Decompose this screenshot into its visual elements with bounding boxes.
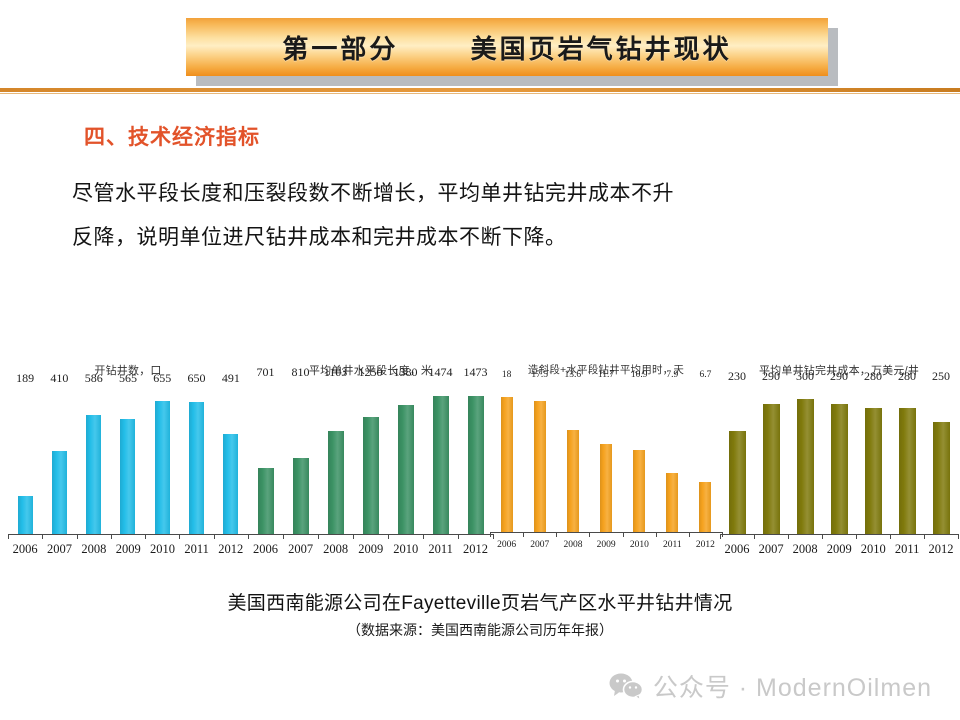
bar[interactable]: 491 <box>223 434 238 534</box>
bar-item[interactable]: 1473 <box>468 382 484 534</box>
bar[interactable]: 11.7 <box>600 444 612 532</box>
header-rule-thick <box>0 88 960 92</box>
figure-caption-source: （数据来源：美国西南能源公司历年年报） <box>0 620 960 640</box>
bar-item[interactable]: 6.7 <box>699 382 711 532</box>
x-tick-label: 2011 <box>428 542 453 557</box>
header-banner: 第一部分 美国页岩气钻井现状 <box>186 18 828 76</box>
bar-value-label: 6.7 <box>699 370 711 380</box>
x-tick-label: 2009 <box>597 540 616 550</box>
axis-tick-mark <box>490 532 491 537</box>
x-tick-label: 2012 <box>218 542 243 557</box>
axis-tick-mark <box>77 534 78 539</box>
axis-tick-mark <box>822 534 823 539</box>
chart-wells: 开钻井数，口1894105865656556504912006200720082… <box>8 352 248 567</box>
bar[interactable]: 410 <box>52 451 67 534</box>
bar[interactable]: 250 <box>933 422 950 534</box>
axis-tick-mark <box>890 534 891 539</box>
x-tick-label: 2009 <box>827 542 852 557</box>
axis-tick-mark <box>145 534 146 539</box>
x-tick-label: 2008 <box>793 542 818 557</box>
bar-item[interactable]: 1250 <box>363 382 379 534</box>
bar-value-label: 13.6 <box>565 370 582 380</box>
bar-value-label: 189 <box>16 371 34 386</box>
bar-item[interactable]: 7.9 <box>666 382 678 532</box>
bar-item[interactable]: 11.7 <box>600 382 612 532</box>
bar-value-label: 1380 <box>394 365 418 380</box>
bar-item[interactable]: 300 <box>797 386 814 534</box>
bar-value-label: 1473 <box>464 365 488 380</box>
x-tick-label: 2012 <box>928 542 953 557</box>
plot-area-days: 1817.513.611.710.97.96.7 <box>490 382 722 532</box>
x-tick-label: 2007 <box>288 542 313 557</box>
x-tick-label: 2009 <box>116 542 141 557</box>
axis-tick-mark <box>720 534 721 539</box>
axis-tick-mark <box>689 532 690 537</box>
bar-item[interactable]: 280 <box>899 386 916 534</box>
axis-tick-mark <box>179 534 180 539</box>
bar-value-label: 1474 <box>429 365 453 380</box>
chart-length: 平均单井水平段长度，米70181011031250138014741473200… <box>248 352 493 567</box>
x-tick-label: 2008 <box>323 542 348 557</box>
axis-tick-mark <box>388 534 389 539</box>
bar-series-length: 70181011031250138014741473 <box>248 382 493 534</box>
body-paragraph: 尽管水平段长度和压裂段数不断增长，平均单井钻完井成本不升 反降，说明单位进尺钻井… <box>72 172 862 260</box>
bar[interactable]: 10.9 <box>633 450 645 532</box>
bar[interactable]: 18 <box>501 397 513 532</box>
x-tick-label: 2012 <box>696 540 715 550</box>
x-tick-label: 2007 <box>530 540 549 550</box>
watermark-text: 公众号 · ModernOilmen <box>653 668 932 704</box>
bar[interactable]: 650 <box>189 402 204 534</box>
bar-item[interactable]: 250 <box>933 386 950 534</box>
bar-value-label: 565 <box>119 371 137 386</box>
x-axis-ticks-cost: 2006200720082009201020112012 <box>720 542 958 557</box>
bar-item[interactable]: 410 <box>52 388 67 534</box>
axis-tick-mark <box>214 534 215 539</box>
bar[interactable]: 189 <box>18 496 33 534</box>
bar[interactable]: 290 <box>831 404 848 534</box>
axis-tick-mark <box>754 534 755 539</box>
axis-tick-mark <box>589 532 590 537</box>
bar-item[interactable]: 290 <box>763 386 780 534</box>
x-tick-label: 2008 <box>563 540 582 550</box>
bar[interactable]: 13.6 <box>567 430 579 532</box>
bar-value-label: 491 <box>222 371 240 386</box>
x-tick-label: 2009 <box>358 542 383 557</box>
bar-item[interactable]: 13.6 <box>567 382 579 532</box>
bar-value-label: 250 <box>932 369 950 384</box>
axis-tick-mark <box>283 534 284 539</box>
figure-caption-main: 美国西南能源公司在Fayetteville页岩气产区水平井钻井情况 <box>0 588 960 615</box>
x-axis-cost <box>720 534 958 535</box>
axis-tick-mark <box>458 534 459 539</box>
paragraph-line: 尽管水平段长度和压裂段数不断增长，平均单井钻完井成本不升 <box>72 172 862 216</box>
section-heading: 四、技术经济指标 <box>84 121 260 151</box>
x-tick-label: 2006 <box>253 542 278 557</box>
bar-value-label: 17.5 <box>531 370 548 380</box>
banner-plate: 第一部分 美国页岩气钻井现状 <box>186 18 828 76</box>
x-tick-label: 2010 <box>630 540 649 550</box>
x-tick-label: 2007 <box>47 542 72 557</box>
axis-tick-mark <box>353 534 354 539</box>
bar-value-label: 7.9 <box>666 370 678 380</box>
bar-value-label: 290 <box>830 369 848 384</box>
bar-item[interactable]: 1380 <box>398 382 414 534</box>
bar-value-label: 810 <box>292 365 310 380</box>
bar-item[interactable]: 10.9 <box>633 382 645 532</box>
axis-tick-mark <box>248 534 249 539</box>
bar[interactable]: 230 <box>729 431 746 534</box>
bar-item[interactable]: 1103 <box>328 382 344 534</box>
bar[interactable]: 565 <box>120 419 135 534</box>
bar[interactable]: 290 <box>763 404 780 534</box>
bar-value-label: 290 <box>762 369 780 384</box>
charts-row: 开钻井数，口1894105865656556504912006200720082… <box>0 352 960 567</box>
bar-value-label: 280 <box>898 369 916 384</box>
bar-value-label: 10.9 <box>631 370 648 380</box>
bar-value-label: 1250 <box>359 365 383 380</box>
axis-tick-mark <box>556 532 557 537</box>
x-tick-label: 2006 <box>497 540 516 550</box>
bar[interactable]: 701 <box>258 468 274 534</box>
x-tick-label: 2010 <box>150 542 175 557</box>
x-tick-label: 2011 <box>895 542 920 557</box>
axis-tick-mark <box>656 532 657 537</box>
bar[interactable]: 280 <box>899 408 916 534</box>
bar[interactable]: 655 <box>155 401 170 534</box>
banner-title: 第一部分 美国页岩气钻井现状 <box>282 29 731 66</box>
bar-item[interactable]: 1474 <box>433 382 449 534</box>
bar-item[interactable]: 701 <box>258 382 274 534</box>
bar-item[interactable]: 565 <box>120 388 135 534</box>
bar-value-label: 1103 <box>324 365 348 380</box>
header-rule-thin <box>0 93 960 94</box>
bar-item[interactable]: 17.5 <box>534 382 546 532</box>
bar-value-label: 230 <box>728 369 746 384</box>
plot-area-cost: 230290300290280280250 <box>720 386 958 534</box>
x-tick-label: 2011 <box>184 542 209 557</box>
bar[interactable]: 810 <box>293 458 309 534</box>
bar-item[interactable]: 280 <box>865 386 882 534</box>
x-tick-label: 2006 <box>725 542 750 557</box>
axis-tick-mark <box>523 532 524 537</box>
bar-value-label: 410 <box>50 371 68 386</box>
plot-area-length: 70181011031250138014741473 <box>248 382 493 534</box>
bar-value-label: 655 <box>153 371 171 386</box>
axis-tick-mark <box>856 534 857 539</box>
x-tick-label: 2012 <box>463 542 488 557</box>
axis-tick-mark <box>788 534 789 539</box>
bar[interactable]: 17.5 <box>534 401 546 532</box>
x-axis-days <box>490 532 722 533</box>
x-axis-length <box>248 534 493 535</box>
bar-item[interactable]: 810 <box>293 382 309 534</box>
x-axis-ticks-wells: 2006200720082009201020112012 <box>8 542 248 557</box>
axis-tick-mark <box>423 534 424 539</box>
bar-item[interactable]: 586 <box>86 388 101 534</box>
bar-value-label: 280 <box>864 369 882 384</box>
bar-value-label: 650 <box>188 371 206 386</box>
x-tick-label: 2010 <box>861 542 886 557</box>
axis-tick-mark <box>623 532 624 537</box>
bar[interactable]: 1474 <box>433 396 449 534</box>
paragraph-line: 反降，说明单位进尺钻井成本和完井成本不断下降。 <box>72 216 862 260</box>
bar[interactable]: 1380 <box>398 405 414 534</box>
x-tick-label: 2008 <box>81 542 106 557</box>
bar-item[interactable]: 189 <box>18 388 33 534</box>
bar-item[interactable]: 290 <box>831 386 848 534</box>
x-axis-ticks-days: 2006200720082009201020112012 <box>490 540 722 550</box>
x-tick-label: 2011 <box>663 540 682 550</box>
bar-value-label: 586 <box>85 371 103 386</box>
bar-series-cost: 230290300290280280250 <box>720 386 958 534</box>
x-axis-ticks-length: 2006200720082009201020112012 <box>248 542 493 557</box>
bar[interactable]: 1250 <box>363 417 379 534</box>
bar-item[interactable]: 230 <box>729 386 746 534</box>
axis-tick-mark <box>924 534 925 539</box>
bar-value-label: 18 <box>502 370 512 380</box>
bar[interactable]: 6.7 <box>699 482 711 532</box>
axis-tick-mark <box>958 534 959 539</box>
plot-area-wells: 189410586565655650491 <box>8 388 248 534</box>
bar-item[interactable]: 655 <box>155 388 170 534</box>
bar[interactable]: 1473 <box>468 396 484 534</box>
bar-item[interactable]: 18 <box>501 382 513 532</box>
chart-cost: 平均单井钻完井成本，万美元/井2302903002902802802502006… <box>720 352 958 567</box>
bar[interactable]: 280 <box>865 408 882 534</box>
bar-series-days: 1817.513.611.710.97.96.7 <box>490 382 722 532</box>
bar[interactable]: 7.9 <box>666 473 678 532</box>
axis-tick-mark <box>42 534 43 539</box>
bar-item[interactable]: 650 <box>189 388 204 534</box>
axis-tick-mark <box>8 534 9 539</box>
bar[interactable]: 300 <box>797 399 814 534</box>
bar-value-label: 11.7 <box>598 370 614 380</box>
bar-series-wells: 189410586565655650491 <box>8 388 248 534</box>
watermark: 公众号 · ModernOilmen <box>609 668 932 704</box>
axis-tick-mark <box>111 534 112 539</box>
bar-item[interactable]: 491 <box>223 388 238 534</box>
bar-value-label: 300 <box>796 369 814 384</box>
wechat-icon <box>609 672 643 700</box>
bar[interactable]: 1103 <box>328 431 344 534</box>
x-axis-wells <box>8 534 248 535</box>
chart-days: 造斜段+水平段钻井平均用时，天1817.513.611.710.97.96.72… <box>490 352 722 567</box>
x-tick-label: 2007 <box>759 542 784 557</box>
bar-value-label: 701 <box>257 365 275 380</box>
x-tick-label: 2010 <box>393 542 418 557</box>
x-tick-label: 2006 <box>13 542 38 557</box>
bar[interactable]: 586 <box>86 415 101 534</box>
axis-tick-mark <box>318 534 319 539</box>
